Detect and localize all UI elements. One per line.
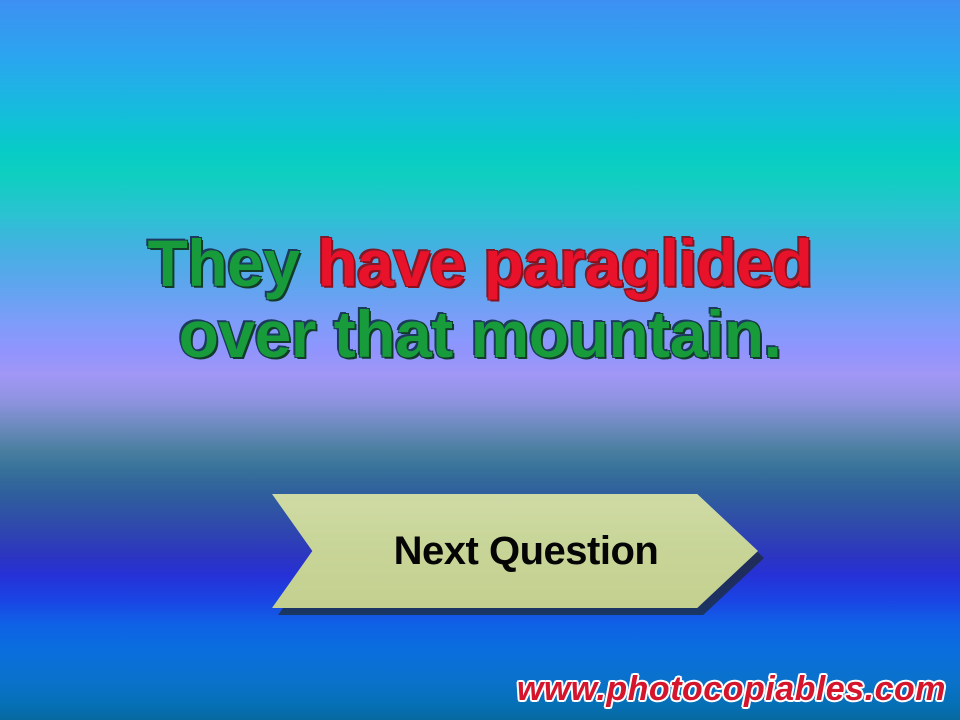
question-line-1: They have paraglided bbox=[0, 228, 960, 299]
footer-watermark: www.photocopiables.com bbox=[517, 670, 946, 709]
question-word-group-green-2: over that mountain. bbox=[179, 297, 782, 371]
question-text: They have paraglided over that mountain. bbox=[0, 228, 960, 369]
next-question-button-label: Next Question bbox=[272, 494, 758, 608]
question-word-group-red-1: have paraglided bbox=[317, 226, 812, 300]
next-question-button[interactable]: Next Question bbox=[272, 494, 762, 614]
question-line-2: over that mountain. bbox=[0, 299, 960, 370]
slide-canvas: They have paraglided over that mountain.… bbox=[0, 0, 960, 720]
question-word-group-green-1: They bbox=[148, 226, 318, 300]
